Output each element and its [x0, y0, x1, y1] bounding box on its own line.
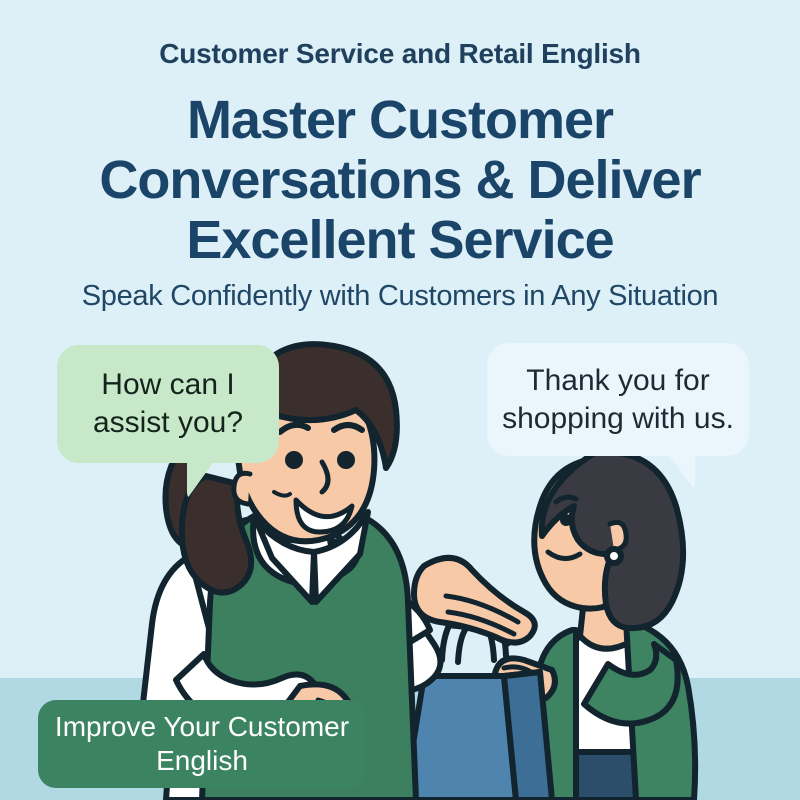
customer-line-1: Thank you for [502, 362, 734, 400]
poster-canvas: Customer Service and Retail English Mast… [0, 0, 800, 800]
cta-badge[interactable]: Improve Your Customer English [38, 700, 366, 788]
speech-bubble-clerk: How can I assist you? [57, 345, 279, 463]
cta-badge-label: Improve Your Customer English [52, 710, 352, 778]
customer-line-2: shopping with us. [502, 400, 734, 438]
speech-bubble-customer: Thank you for shopping with us. [487, 343, 749, 456]
speech-bubble-customer-tail [665, 450, 695, 490]
speech-bubble-clerk-tail [187, 457, 217, 499]
speech-bubble-customer-text: Thank you for shopping with us. [502, 362, 734, 438]
clerk-line-1: How can I [93, 366, 243, 404]
speech-bubble-clerk-text: How can I assist you? [93, 366, 243, 442]
clerk-line-2: assist you? [93, 404, 243, 442]
